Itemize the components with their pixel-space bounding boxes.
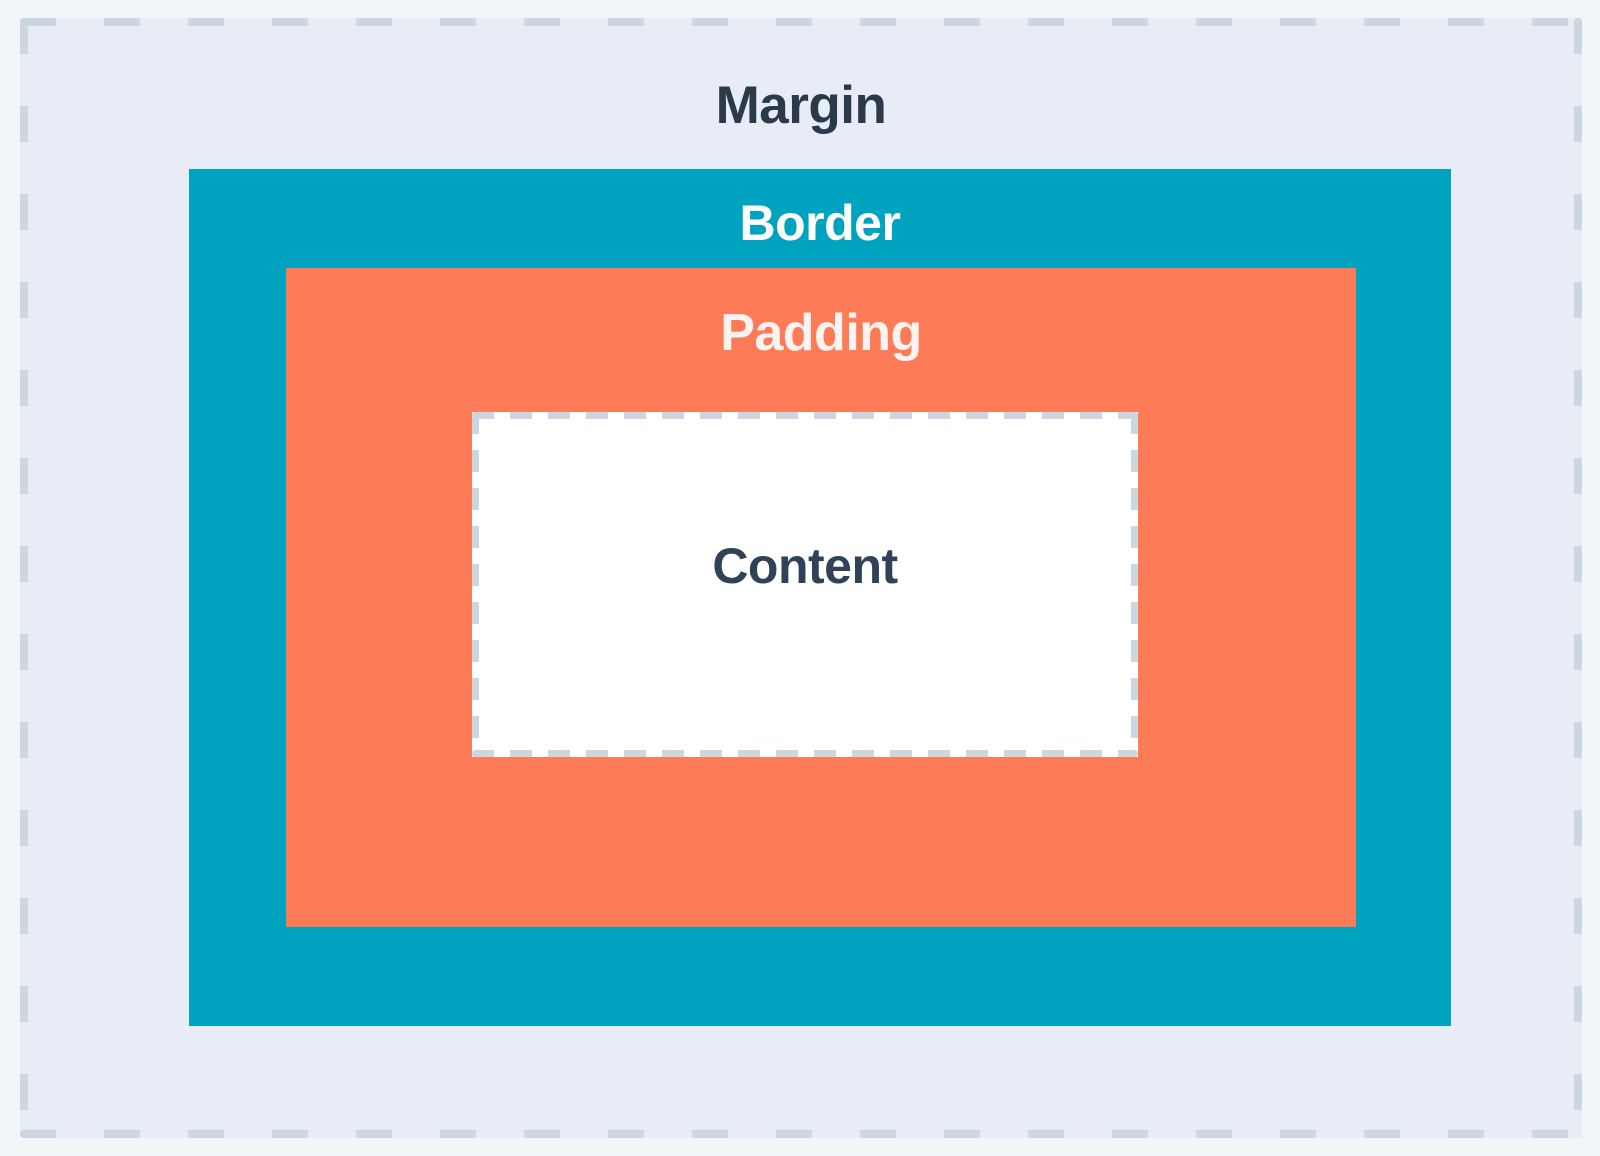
margin-region: Margin Border Padding Content [20, 18, 1582, 1138]
content-label: Content [472, 537, 1138, 595]
margin-dashed-edge-right [1574, 18, 1582, 1138]
padding-label: Padding [286, 303, 1356, 363]
content-region: Content [472, 412, 1138, 757]
content-dashed-edge-top [472, 412, 1138, 419]
padding-region: Padding Content [286, 268, 1356, 927]
margin-dashed-edge-bottom [20, 1130, 1582, 1138]
border-label: Border [189, 194, 1451, 252]
margin-dashed-edge-top [20, 18, 1582, 26]
box-model-diagram: Margin Border Padding Content [0, 0, 1600, 1156]
margin-label: Margin [20, 75, 1582, 136]
margin-dashed-edge-left [20, 18, 28, 1138]
content-dashed-edge-bottom [472, 750, 1138, 757]
border-region: Border Padding Content [189, 169, 1451, 1026]
